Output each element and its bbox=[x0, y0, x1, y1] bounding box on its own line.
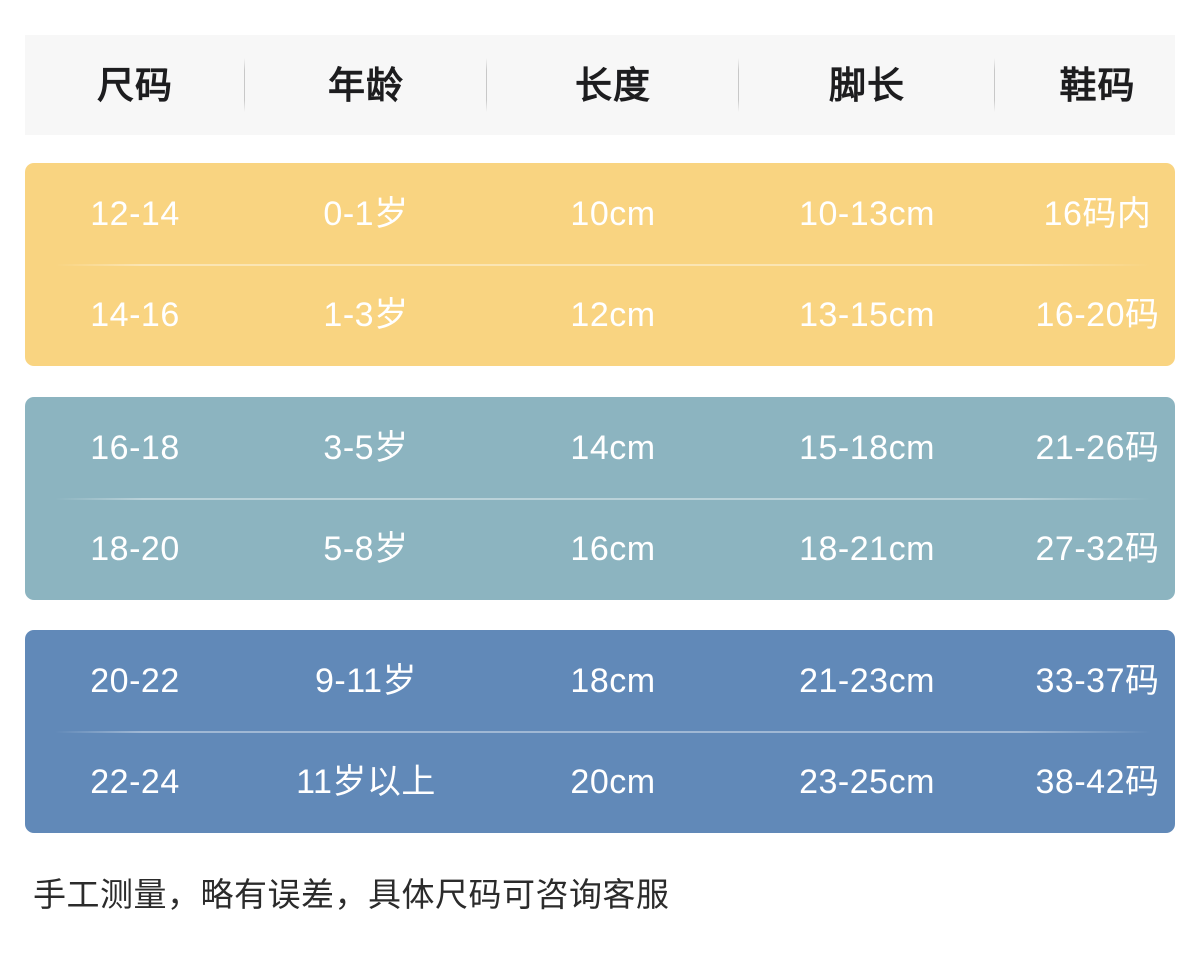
column-header-size: 尺码 bbox=[25, 67, 245, 104]
column-header-foot-length: 脚长 bbox=[739, 67, 995, 104]
cell-length: 14cm bbox=[487, 431, 739, 465]
column-header-age: 年龄 bbox=[245, 67, 487, 104]
column-header-shoe-size: 鞋码 bbox=[995, 67, 1200, 104]
cell-length: 10cm bbox=[487, 197, 739, 231]
table-row: 22-24 11岁以上 20cm 23-25cm 38-42码 bbox=[25, 731, 1175, 832]
cell-foot: 23-25cm bbox=[739, 765, 995, 799]
cell-age: 0-1岁 bbox=[245, 197, 487, 231]
cell-shoe: 27-32码 bbox=[995, 532, 1175, 566]
cell-foot: 10-13cm bbox=[739, 197, 995, 231]
cell-size: 20-22 bbox=[25, 664, 245, 698]
cell-age: 5-8岁 bbox=[245, 532, 487, 566]
header-row: 尺码 年龄 长度 脚长 鞋码 bbox=[25, 35, 1175, 135]
cell-foot: 15-18cm bbox=[739, 431, 995, 465]
cell-shoe: 16码内 bbox=[995, 197, 1175, 231]
cell-age: 11岁以上 bbox=[245, 765, 487, 799]
cell-size: 16-18 bbox=[25, 431, 245, 465]
cell-foot: 13-15cm bbox=[739, 298, 995, 332]
table-header: 尺码 年龄 长度 脚长 鞋码 bbox=[25, 35, 1175, 135]
cell-length: 20cm bbox=[487, 765, 739, 799]
size-group-toddler: 16-18 3-5岁 14cm 15-18cm 21-26码 18-20 5-8… bbox=[25, 397, 1175, 600]
table-row: 14-16 1-3岁 12cm 13-15cm 16-20码 bbox=[25, 264, 1175, 365]
measurement-disclaimer: 手工测量，略有误差，具体尺码可咨询客服 bbox=[33, 868, 670, 916]
cell-age: 3-5岁 bbox=[245, 431, 487, 465]
cell-length: 12cm bbox=[487, 298, 739, 332]
cell-age: 1-3岁 bbox=[245, 298, 487, 332]
cell-age: 9-11岁 bbox=[245, 664, 487, 698]
table-row: 16-18 3-5岁 14cm 15-18cm 21-26码 bbox=[25, 397, 1175, 498]
cell-foot: 21-23cm bbox=[739, 664, 995, 698]
cell-shoe: 21-26码 bbox=[995, 431, 1175, 465]
cell-shoe: 16-20码 bbox=[995, 298, 1175, 332]
cell-length: 18cm bbox=[487, 664, 739, 698]
cell-size: 14-16 bbox=[25, 298, 245, 332]
cell-shoe: 33-37码 bbox=[995, 664, 1175, 698]
size-group-youth: 20-22 9-11岁 18cm 21-23cm 33-37码 22-24 11… bbox=[25, 630, 1175, 833]
size-chart-table: 尺码 年龄 长度 脚长 鞋码 12-14 0-1岁 10cm 10-13cm 1… bbox=[0, 0, 1200, 959]
table-row: 12-14 0-1岁 10cm 10-13cm 16码内 bbox=[25, 163, 1175, 264]
cell-size: 22-24 bbox=[25, 765, 245, 799]
cell-size: 18-20 bbox=[25, 532, 245, 566]
table-row: 18-20 5-8岁 16cm 18-21cm 27-32码 bbox=[25, 498, 1175, 599]
cell-length: 16cm bbox=[487, 532, 739, 566]
size-group-infant: 12-14 0-1岁 10cm 10-13cm 16码内 14-16 1-3岁 … bbox=[25, 163, 1175, 366]
column-header-length: 长度 bbox=[487, 67, 739, 104]
cell-shoe: 38-42码 bbox=[995, 765, 1175, 799]
cell-foot: 18-21cm bbox=[739, 532, 995, 566]
table-row: 20-22 9-11岁 18cm 21-23cm 33-37码 bbox=[25, 630, 1175, 731]
cell-size: 12-14 bbox=[25, 197, 245, 231]
